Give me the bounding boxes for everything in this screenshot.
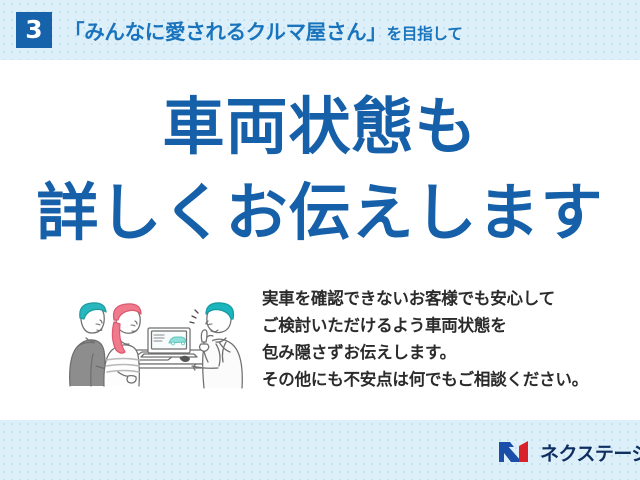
- body-copy-line-4: その他にも不安点は何でもご相談ください。: [262, 367, 622, 394]
- body-copy-line-2: ご検討いただけるよう車両状態を: [262, 313, 622, 340]
- body-copy-line-3: 包み隠さずお伝えします。: [262, 340, 622, 367]
- header: 3 「みんなに愛されるクルマ屋さん」 を目指して: [0, 0, 640, 60]
- nextage-logo: ネクステージ: [497, 437, 640, 467]
- headline-line-2: 詳しくお伝えします: [0, 182, 640, 244]
- body-copy: 実車を確認できないお客様でも安心して ご検討いただけるよう車両状態を 包み隠さず…: [262, 286, 622, 394]
- header-slogan-quoted: 「みんなに愛されるクルマ屋さん」: [64, 15, 387, 45]
- headline: 車両状態も 詳しくお伝えします: [0, 96, 640, 244]
- headline-line-1: 車両状態も: [0, 96, 640, 158]
- header-slogan-suffix: を目指して: [387, 22, 463, 44]
- header-slogan: 「みんなに愛されるクルマ屋さん」 を目指して: [64, 15, 463, 45]
- consultation-illustration: [56, 276, 256, 392]
- body-copy-line-1: 実車を確認できないお客様でも安心して: [262, 286, 622, 313]
- advertisement-slide: 3 「みんなに愛されるクルマ屋さん」 を目指して 車両状態も 詳しくお伝えします: [0, 0, 640, 480]
- step-number-badge: 3: [16, 12, 52, 48]
- nextage-wordmark: ネクステージ: [540, 439, 640, 466]
- nextage-n-mark-icon: [497, 439, 533, 465]
